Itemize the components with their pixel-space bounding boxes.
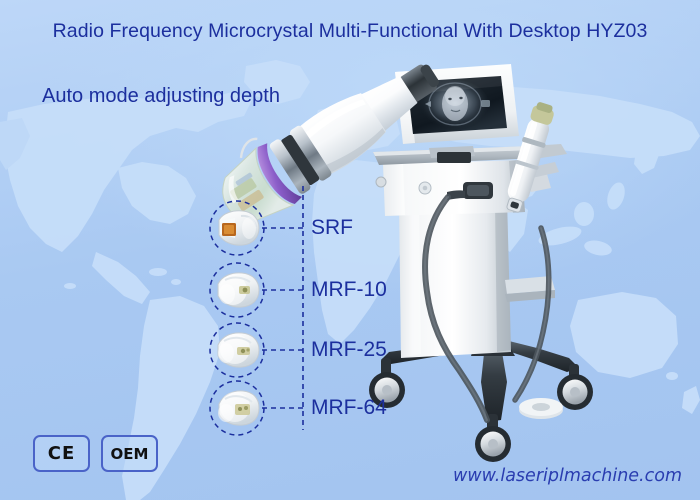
tip-label-mrf10: MRF-10 xyxy=(311,279,387,300)
tip-label-mrf64: MRF-64 xyxy=(311,397,387,418)
cartridge-mrf25-icon xyxy=(211,328,263,372)
cartridge-srf-icon xyxy=(211,206,263,250)
subtitle-auto-mode: Auto mode adjusting depth xyxy=(42,85,280,108)
certification-badges: CE OEM xyxy=(33,435,158,472)
product-poster: Radio Frequency Microcrystal Multi-Funct… xyxy=(0,0,700,500)
website-url: www.laseriplmachine.com xyxy=(453,466,682,486)
ce-badge: CE xyxy=(33,435,90,472)
tip-label-srf: SRF xyxy=(311,217,353,238)
oem-badge: OEM xyxy=(101,435,158,472)
cartridge-mrf64-icon xyxy=(211,386,263,430)
cartridge-mrf10-icon xyxy=(211,268,263,312)
callout-lines xyxy=(0,0,700,500)
tip-label-mrf25: MRF-25 xyxy=(311,339,387,360)
page-title: Radio Frequency Microcrystal Multi-Funct… xyxy=(0,20,700,43)
